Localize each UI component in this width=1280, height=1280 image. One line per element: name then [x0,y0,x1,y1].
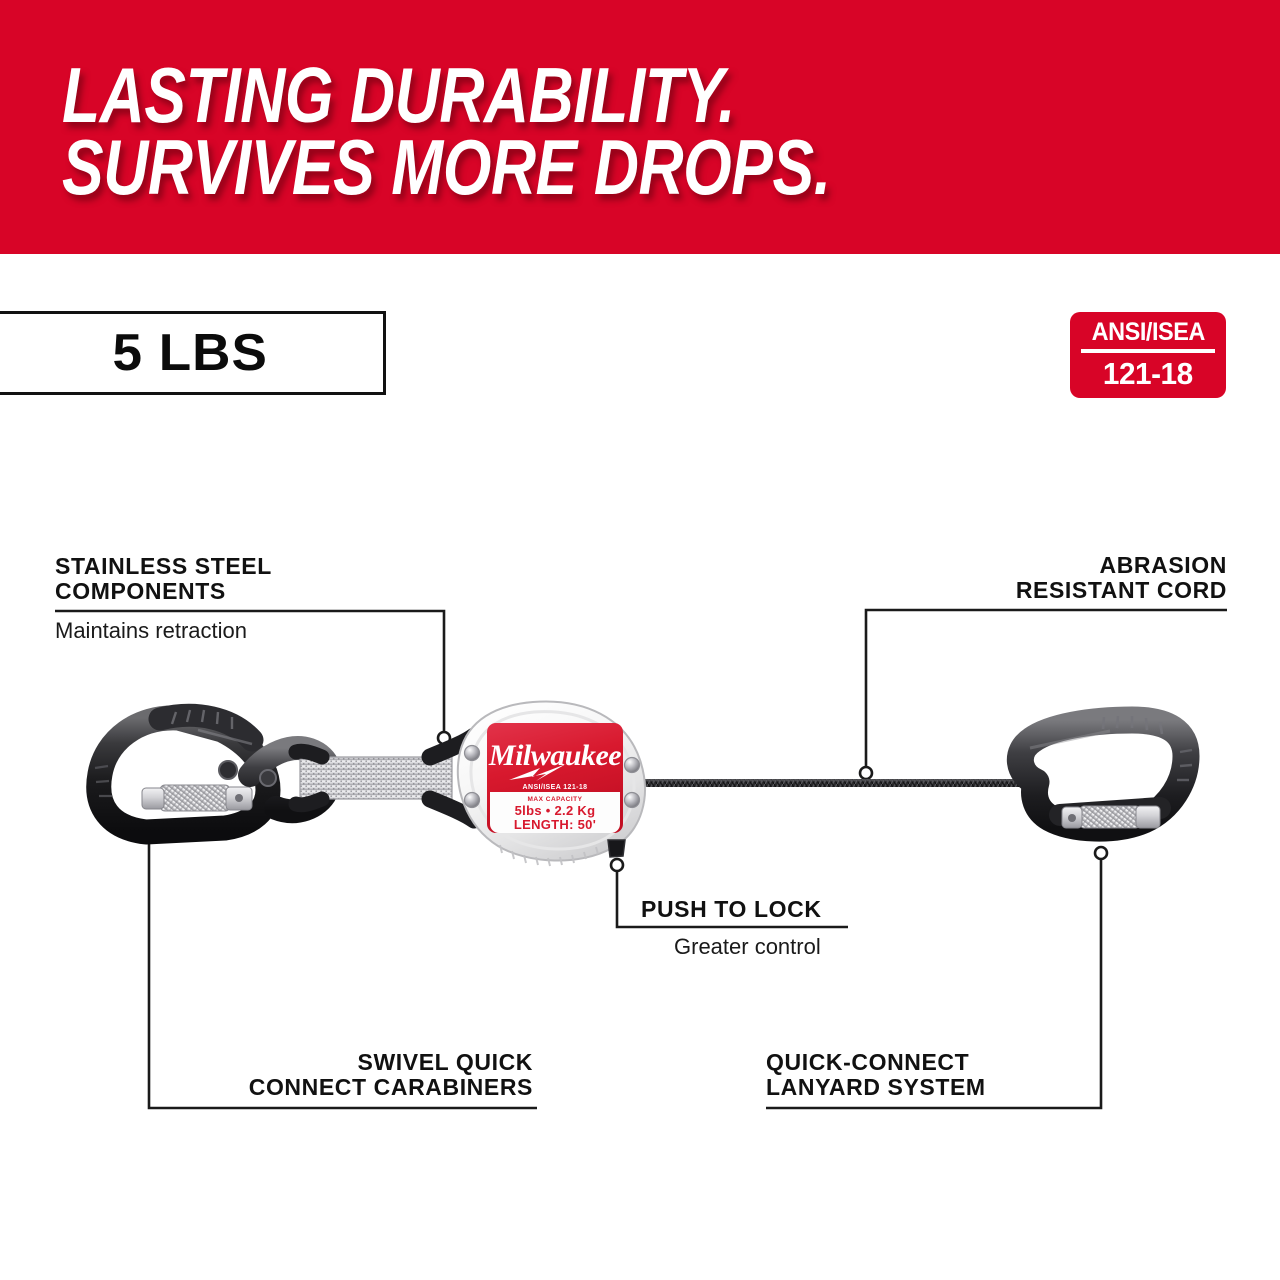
left-carabiner-lock-sleeve [142,785,252,811]
cord-highlight [640,779,1022,781]
reel-label-capacity: 5lbs • 2.2 Kg [515,803,596,818]
product-infographic: LASTING DURABILITY. SURVIVES MORE DROPS.… [0,0,1280,1280]
reel-rivet-top-right [625,758,640,773]
webbing-loop-swivel-bottom [296,799,322,805]
reel-rivet-bottom-right [625,793,640,808]
product-illustration: Milwaukee ANSI/ISEA 121-18 MAX CAPACITY … [0,0,1280,1280]
milwaukee-wordmark: Milwaukee [488,739,621,772]
reel-rivet-top-left [465,746,480,761]
push-to-lock-button [608,840,625,857]
webbing-loop-swivel-top [296,751,322,757]
retractable-reel-housing: Milwaukee ANSI/ISEA 121-18 MAX CAPACITY … [458,701,645,866]
swivel-pin-left [219,761,237,779]
reel-label-length: LENGTH: 50' [514,817,596,832]
abrasion-resistant-cord [640,779,1022,787]
reel-rivet-bottom-left [465,793,480,808]
right-carabiner-lock-sleeve [1062,806,1160,828]
reel-label-standard: ANSI/ISEA 121-18 [523,784,588,791]
swivel-pin-right [260,770,276,786]
reel-label-capacity-heading: MAX CAPACITY [528,796,583,803]
right-carabiner [1020,716,1192,828]
